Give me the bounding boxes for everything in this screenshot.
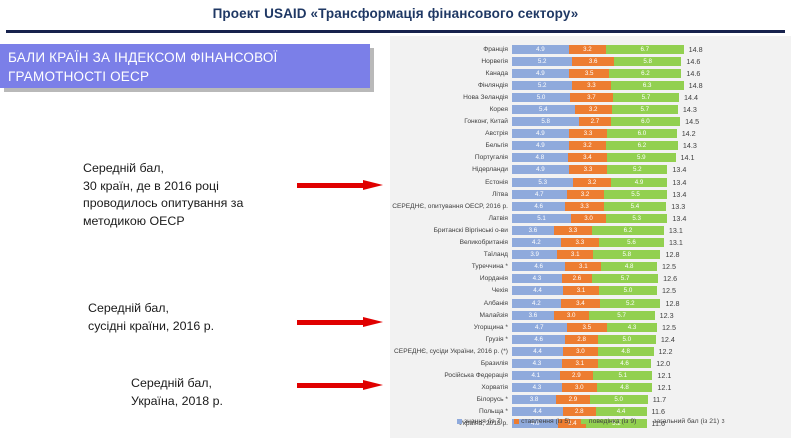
chart-row-label: Угорщина * (390, 324, 512, 331)
chart-row: Хорватія4.33.04.812.1 (390, 382, 791, 394)
chart-row-label: Хорватія (390, 384, 512, 391)
chart-segment-attitude: 3.3 (569, 165, 607, 174)
chart-segment-behaviour: 6.7 (606, 45, 684, 54)
chart-segment-attitude: 2.8 (563, 407, 595, 416)
chart-row-total: 14.6 (681, 69, 700, 78)
chart-row-label: Йорданія (390, 275, 512, 282)
chart-segment-attitude: 3.2 (573, 178, 610, 187)
chart-row-bars: 4.33.14.6 (512, 359, 651, 368)
chart-row-label: Естонія (390, 179, 512, 186)
chart-segment-attitude: 2.7 (579, 117, 610, 126)
chart-row: Канада4.93.56.214.6 (390, 67, 791, 79)
chart-segment-behaviour: 5.7 (592, 274, 658, 283)
arrow-head (363, 317, 383, 327)
arrow-head (363, 180, 383, 190)
chart-segment-knowledge: 4.2 (512, 299, 561, 308)
chart-row-label: Нідерланди (390, 166, 512, 173)
financial-literacy-chart: Франція4.93.26.714.8Норвегія5.23.65.814.… (390, 36, 791, 438)
chart-segment-knowledge: 5.0 (512, 93, 570, 102)
chart-segment-attitude: 3.5 (569, 69, 610, 78)
chart-row-total: 14.8 (684, 81, 703, 90)
annotation-oecd-average: Середній бал, 30 країн, де в 2016 році п… (83, 160, 243, 230)
chart-row: Нідерланди4.93.35.213.4 (390, 164, 791, 176)
chart-segment-knowledge: 4.3 (512, 383, 562, 392)
chart-row-bars: 4.93.26.7 (512, 45, 684, 54)
chart-row-bars: 4.93.56.2 (512, 69, 681, 78)
chart-segment-attitude: 3.5 (567, 323, 608, 332)
chart-row-total: 12.8 (660, 250, 679, 259)
chart-segment-knowledge: 5.2 (512, 81, 572, 90)
chart-segment-behaviour: 5.2 (607, 165, 667, 174)
title-divider (6, 30, 785, 33)
chart-segment-behaviour: 6.2 (592, 226, 664, 235)
chart-segment-knowledge: 3.9 (512, 250, 557, 259)
chart-row-label: Чехія (390, 287, 512, 294)
chart-row-total: 13.4 (667, 178, 686, 187)
chart-row-bars: 5.33.24.9 (512, 178, 667, 187)
legend-swatch-attitude (514, 419, 519, 424)
chart-row-bars: 4.63.35.4 (512, 202, 666, 211)
chart-row-bars: 4.43.15.0 (512, 286, 657, 295)
chart-row-label: Гонконг, Китай (390, 118, 512, 125)
chart-segment-behaviour: 6.3 (611, 81, 684, 90)
chart-segment-knowledge: 4.4 (512, 407, 563, 416)
chart-row: Нова Зеландія5.03.75.714.4 (390, 91, 791, 103)
chart-row: Польща *4.42.84.411.6 (390, 406, 791, 418)
chart-row-total: 12.0 (651, 359, 670, 368)
chart-row-total: 12.3 (655, 311, 674, 320)
chart-segment-attitude: 2.9 (560, 371, 594, 380)
chart-segment-knowledge: 4.2 (512, 238, 561, 247)
chart-row-bars: 5.43.25.7 (512, 105, 678, 114)
chart-segment-behaviour: 4.8 (601, 262, 657, 271)
chart-row: Великобританія4.23.35.613.1 (390, 237, 791, 249)
chart-segment-behaviour: 4.6 (598, 359, 651, 368)
chart-row-total: 12.6 (658, 274, 677, 283)
chart-row-total: 13.1 (664, 226, 683, 235)
chart-row: Літва4.73.25.513.4 (390, 188, 791, 200)
chart-segment-behaviour: 5.7 (613, 93, 679, 102)
annotation-ukraine-average: Середній бал, Україна, 2018 р. (131, 375, 223, 410)
chart-row-label: Британскі Віргінські о-ви (390, 227, 512, 234)
chart-row: Норвегія5.23.65.814.6 (390, 55, 791, 67)
chart-row-total: 14.6 (681, 57, 700, 66)
legend-label-behaviour: поведінка (із 9) (589, 418, 636, 425)
chart-segment-attitude: 2.8 (565, 335, 597, 344)
chart-row-bars: 4.42.84.4 (512, 407, 647, 416)
chart-segment-knowledge: 4.6 (512, 262, 565, 271)
chart-segment-knowledge: 4.9 (512, 141, 569, 150)
chart-row-bars: 4.23.35.6 (512, 238, 664, 247)
chart-row-bars: 4.62.85.0 (512, 335, 656, 344)
chart-row-bars: 5.03.75.7 (512, 93, 679, 102)
chart-segment-behaviour: 5.1 (593, 371, 652, 380)
chart-row-total: 14.3 (678, 105, 697, 114)
chart-row: Малайзія3.63.05.712.3 (390, 309, 791, 321)
chart-row: Корея5.43.25.714.3 (390, 103, 791, 115)
chart-row: Латвія5.13.05.313.4 (390, 212, 791, 224)
chart-row-label: Туреччина * (390, 263, 512, 270)
chart-row-label: Бельгія (390, 142, 512, 149)
legend-label-knowledge: знання (із 7) (464, 418, 503, 425)
legend-item-total: загальний бал (із 21)3 (653, 418, 724, 425)
arrow-head (363, 380, 383, 390)
chart-row-label: Франція (390, 46, 512, 53)
chart-row: Австрія4.93.36.014.2 (390, 128, 791, 140)
chart-segment-attitude: 3.0 (571, 214, 606, 223)
chart-row-total: 14.1 (676, 153, 695, 162)
chart-row-bars: 4.43.04.8 (512, 347, 654, 356)
chart-segment-knowledge: 4.9 (512, 129, 569, 138)
chart-segment-attitude: 3.0 (563, 347, 598, 356)
chart-segment-behaviour: 4.9 (611, 178, 668, 187)
page-title: Проект USAID «Трансформація фінансового … (0, 6, 791, 21)
chart-segment-attitude: 3.3 (572, 81, 610, 90)
chart-segment-knowledge: 5.8 (512, 117, 579, 126)
chart-segment-behaviour: 5.3 (606, 214, 667, 223)
chart-row: Чехія4.43.15.012.5 (390, 285, 791, 297)
chart-segment-knowledge: 3.6 (512, 226, 554, 235)
chart-row-label: Корея (390, 106, 512, 113)
chart-segment-behaviour: 5.0 (598, 335, 656, 344)
chart-row-bars: 4.33.04.8 (512, 383, 652, 392)
legend-label-total: загальний бал (із 21) (653, 418, 719, 425)
chart-segment-behaviour: 6.2 (606, 141, 678, 150)
chart-row-bars: 3.93.15.8 (512, 250, 660, 259)
chart-segment-attitude: 3.3 (565, 202, 603, 211)
annotation-neighbours-average: Середній бал, сусідні країни, 2016 р. (88, 300, 214, 335)
chart-segment-behaviour: 5.7 (589, 311, 655, 320)
chart-row-total: 12.5 (657, 262, 676, 271)
chart-segment-attitude: 2.9 (556, 395, 590, 404)
chart-row-total: 12.1 (652, 371, 671, 380)
chart-row: Бельгія4.93.26.214.3 (390, 140, 791, 152)
chart-row-bars: 3.82.95.0 (512, 395, 648, 404)
chart-row-bars: 4.23.45.2 (512, 299, 660, 308)
chart-row-label: Нова Зеландія (390, 94, 512, 101)
chart-row-label: Австрія (390, 130, 512, 137)
chart-row-total: 14.8 (684, 45, 703, 54)
chart-row-bars: 3.63.05.7 (512, 311, 655, 320)
legend-swatch-knowledge (457, 419, 462, 424)
chart-row-total: 13.4 (667, 190, 686, 199)
chart-row-total: 13.3 (666, 202, 685, 211)
chart-segment-behaviour: 4.3 (607, 323, 657, 332)
chart-segment-knowledge: 4.7 (512, 323, 567, 332)
chart-row: Російська Федерація4.12.95.112.1 (390, 370, 791, 382)
chart-row-bars: 4.32.65.7 (512, 274, 658, 283)
chart-segment-knowledge: 5.1 (512, 214, 571, 223)
chart-segment-behaviour: 5.8 (614, 57, 681, 66)
chart-segment-behaviour: 4.4 (596, 407, 647, 416)
chart-row-label: Білорусь * (390, 396, 512, 403)
arrow-right-icon-neighbours (297, 317, 385, 327)
chart-segment-attitude: 3.2 (575, 105, 612, 114)
legend-item-knowledge: знання (із 7) (457, 418, 503, 425)
chart-segment-attitude: 3.0 (562, 383, 597, 392)
chart-row-label: Албанія (390, 300, 512, 307)
chart-row-label: Фінляндія (390, 82, 512, 89)
chart-row-total: 12.2 (654, 347, 673, 356)
chart-segment-knowledge: 4.3 (512, 359, 562, 368)
chart-segment-attitude: 3.3 (569, 129, 607, 138)
chart-segment-attitude: 3.3 (554, 226, 592, 235)
chart-row-total: 13.1 (664, 238, 683, 247)
chart-segment-behaviour: 5.5 (604, 190, 668, 199)
chart-segment-behaviour: 5.2 (600, 299, 660, 308)
chart-segment-behaviour: 6.0 (607, 129, 677, 138)
chart-segment-knowledge: 4.9 (512, 165, 569, 174)
chart-row-bars: 5.23.65.8 (512, 57, 681, 66)
chart-segment-behaviour: 6.0 (611, 117, 681, 126)
chart-row: Грузія *4.62.85.012.4 (390, 333, 791, 345)
chart-segment-behaviour: 5.4 (604, 202, 667, 211)
chart-row-label: Малайзія (390, 312, 512, 319)
chart-row-total: 13.4 (667, 214, 686, 223)
chart-segment-attitude: 3.2 (569, 45, 606, 54)
chart-segment-attitude: 3.0 (554, 311, 589, 320)
chart-segment-attitude: 3.3 (561, 238, 599, 247)
chart-segment-behaviour: 4.8 (598, 347, 654, 356)
chart-row: Гонконг, Китай5.82.76.014.5 (390, 116, 791, 128)
chart-row-bars: 4.73.54.3 (512, 323, 657, 332)
chart-row: Фінляндія5.23.36.314.8 (390, 79, 791, 91)
heading-banner: БАЛИ КРАЇН ЗА ІНДЕКСОМ ФІНАНСОВОЇ ГРАМОТ… (0, 44, 370, 88)
chart-row: Йорданія4.32.65.712.6 (390, 273, 791, 285)
chart-row-bars: 4.93.36.0 (512, 129, 677, 138)
chart-row: Туреччина *4.63.14.812.5 (390, 261, 791, 273)
legend-total-superscript: 3 (722, 419, 725, 425)
arrow-shaft (297, 183, 365, 188)
chart-segment-knowledge: 4.9 (512, 45, 569, 54)
arrow-shaft (297, 320, 365, 325)
chart-row-total: 12.5 (657, 323, 676, 332)
chart-row: Португалія4.83.45.914.1 (390, 152, 791, 164)
chart-row-total: 12.8 (660, 299, 679, 308)
chart-row-label: Польща * (390, 408, 512, 415)
chart-segment-behaviour: 4.8 (597, 383, 653, 392)
chart-row-total: 12.5 (657, 286, 676, 295)
chart-segment-knowledge: 4.6 (512, 202, 565, 211)
chart-row: Бразилія4.33.14.612.0 (390, 357, 791, 369)
chart-segment-knowledge: 3.8 (512, 395, 556, 404)
chart-segment-attitude: 3.1 (557, 250, 593, 259)
chart-segment-knowledge: 4.4 (512, 347, 563, 356)
chart-segment-attitude: 3.1 (563, 286, 599, 295)
chart-row-total: 14.4 (679, 93, 698, 102)
chart-row: Таїланд3.93.15.812.8 (390, 249, 791, 261)
chart-row-total: 11.6 (647, 407, 665, 416)
chart-segment-knowledge: 5.3 (512, 178, 573, 187)
chart-segment-attitude: 3.2 (569, 141, 606, 150)
chart-segment-knowledge: 4.7 (512, 190, 567, 199)
chart-row-label: Норвегія (390, 58, 512, 65)
chart-segment-knowledge: 5.4 (512, 105, 575, 114)
chart-row: Білорусь *3.82.95.011.7 (390, 394, 791, 406)
chart-row-total: 14.3 (678, 141, 697, 150)
chart-row-total: 14.2 (677, 129, 696, 138)
chart-row: Франція4.93.26.714.8 (390, 43, 791, 55)
chart-row-bars: 4.73.25.5 (512, 190, 667, 199)
legend-item-attitude: ставлення (із 5) (514, 418, 571, 425)
chart-segment-attitude: 3.4 (568, 153, 607, 162)
legend-swatch-behaviour (581, 419, 586, 424)
chart-segment-knowledge: 4.9 (512, 69, 569, 78)
chart-legend: знання (із 7) ставлення (із 5) поведінка… (390, 418, 791, 425)
chart-row-label: Російська Федерація (390, 372, 512, 379)
chart-segment-knowledge: 5.2 (512, 57, 572, 66)
chart-segment-behaviour: 5.6 (599, 238, 664, 247)
chart-row: Британскі Віргінські о-ви3.63.36.213.1 (390, 224, 791, 236)
chart-row-bars: 4.93.26.2 (512, 141, 678, 150)
chart-row-label: СЕРЕДНЄ, сусіди України, 2016 р. (*) (390, 348, 512, 355)
chart-row-total: 14.5 (680, 117, 699, 126)
chart-row-bars: 5.23.36.3 (512, 81, 684, 90)
chart-segment-knowledge: 4.3 (512, 274, 562, 283)
chart-row: СЕРЕДНЄ, сусіди України, 2016 р. (*)4.43… (390, 345, 791, 357)
chart-row-label: Великобританія (390, 239, 512, 246)
chart-segment-attitude: 3.6 (572, 57, 614, 66)
chart-segment-knowledge: 4.6 (512, 335, 565, 344)
chart-row-label: Бразилія (390, 360, 512, 367)
chart-row-label: Літва (390, 191, 512, 198)
chart-segment-behaviour: 5.7 (612, 105, 678, 114)
chart-segment-knowledge: 4.8 (512, 153, 568, 162)
chart-segment-attitude: 3.7 (570, 93, 613, 102)
chart-segment-behaviour: 5.0 (599, 286, 657, 295)
chart-segment-attitude: 3.4 (561, 299, 600, 308)
chart-segment-attitude: 3.1 (562, 359, 598, 368)
chart-segment-knowledge: 4.4 (512, 286, 563, 295)
chart-segment-attitude: 3.2 (567, 190, 604, 199)
chart-segment-behaviour: 6.2 (609, 69, 681, 78)
chart-row-bars: 4.12.95.1 (512, 371, 652, 380)
chart-row-bars: 5.13.05.3 (512, 214, 667, 223)
chart-segment-behaviour: 5.8 (593, 250, 660, 259)
chart-row-bars: 4.83.45.9 (512, 153, 676, 162)
arrow-right-icon-ukraine (297, 380, 385, 390)
legend-label-attitude: ставлення (із 5) (521, 418, 570, 425)
chart-row-bars: 4.63.14.8 (512, 262, 657, 271)
legend-item-behaviour: поведінка (із 9) (581, 418, 636, 425)
chart-row-bars: 3.63.36.2 (512, 226, 664, 235)
chart-row-bars: 4.93.35.2 (512, 165, 667, 174)
chart-segment-knowledge: 3.6 (512, 311, 554, 320)
arrow-shaft (297, 383, 365, 388)
chart-row-total: 12.4 (656, 335, 675, 344)
chart-row-label: Португалія (390, 154, 512, 161)
chart-segment-behaviour: 5.9 (607, 153, 675, 162)
chart-row-label: СЕРЕДНЄ, опитування ОЕСР, 2016 р. (390, 203, 512, 210)
chart-row-total: 13.4 (667, 165, 686, 174)
chart-segment-attitude: 2.6 (562, 274, 592, 283)
chart-row: Албанія4.23.45.212.8 (390, 297, 791, 309)
chart-segment-behaviour: 5.0 (590, 395, 648, 404)
chart-rows: Франція4.93.26.714.8Норвегія5.23.65.814.… (390, 43, 791, 430)
chart-row-label: Таїланд (390, 251, 512, 258)
chart-row: Угорщина *4.73.54.312.5 (390, 321, 791, 333)
chart-row-label: Грузія * (390, 336, 512, 343)
chart-row-label: Канада (390, 70, 512, 77)
chart-row: СЕРЕДНЄ, опитування ОЕСР, 2016 р.4.63.35… (390, 200, 791, 212)
chart-row-total: 11.7 (648, 395, 666, 404)
chart-row-bars: 5.82.76.0 (512, 117, 680, 126)
chart-segment-knowledge: 4.1 (512, 371, 560, 380)
arrow-right-icon-oecd (297, 180, 385, 190)
chart-segment-attitude: 3.1 (565, 262, 601, 271)
chart-row-label: Латвія (390, 215, 512, 222)
chart-row: Естонія5.33.24.913.4 (390, 176, 791, 188)
chart-row-total: 12.1 (652, 383, 671, 392)
